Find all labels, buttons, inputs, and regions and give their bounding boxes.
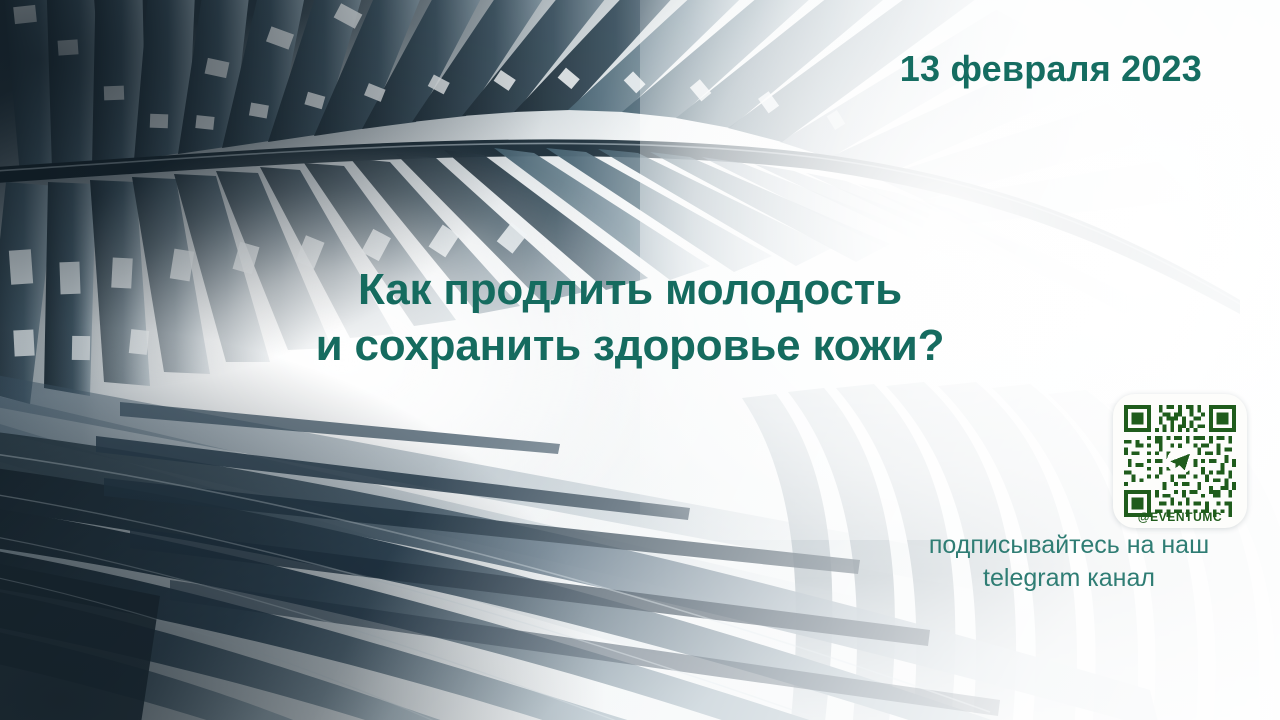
- qr-code-icon: [1124, 405, 1236, 517]
- title-line-1: Как продлить молодость: [0, 262, 1260, 318]
- cta-line-1: подписывайтесь на наш: [904, 529, 1234, 562]
- telegram-qr-card[interactable]: [1113, 394, 1247, 528]
- subscribe-call-to-action: подписывайтесь на наш telegram канал: [904, 529, 1234, 595]
- promo-poster: 13 февраля 2023 Как продлить молодость и…: [0, 0, 1280, 720]
- event-date: 13 февраля 2023: [900, 48, 1202, 90]
- cta-line-2: telegram канал: [904, 562, 1234, 595]
- page-title: Как продлить молодость и сохранить здоро…: [0, 262, 1280, 375]
- telegram-handle: @EVENTUMC: [1113, 510, 1247, 524]
- title-line-2: и сохранить здоровье кожи?: [0, 318, 1260, 374]
